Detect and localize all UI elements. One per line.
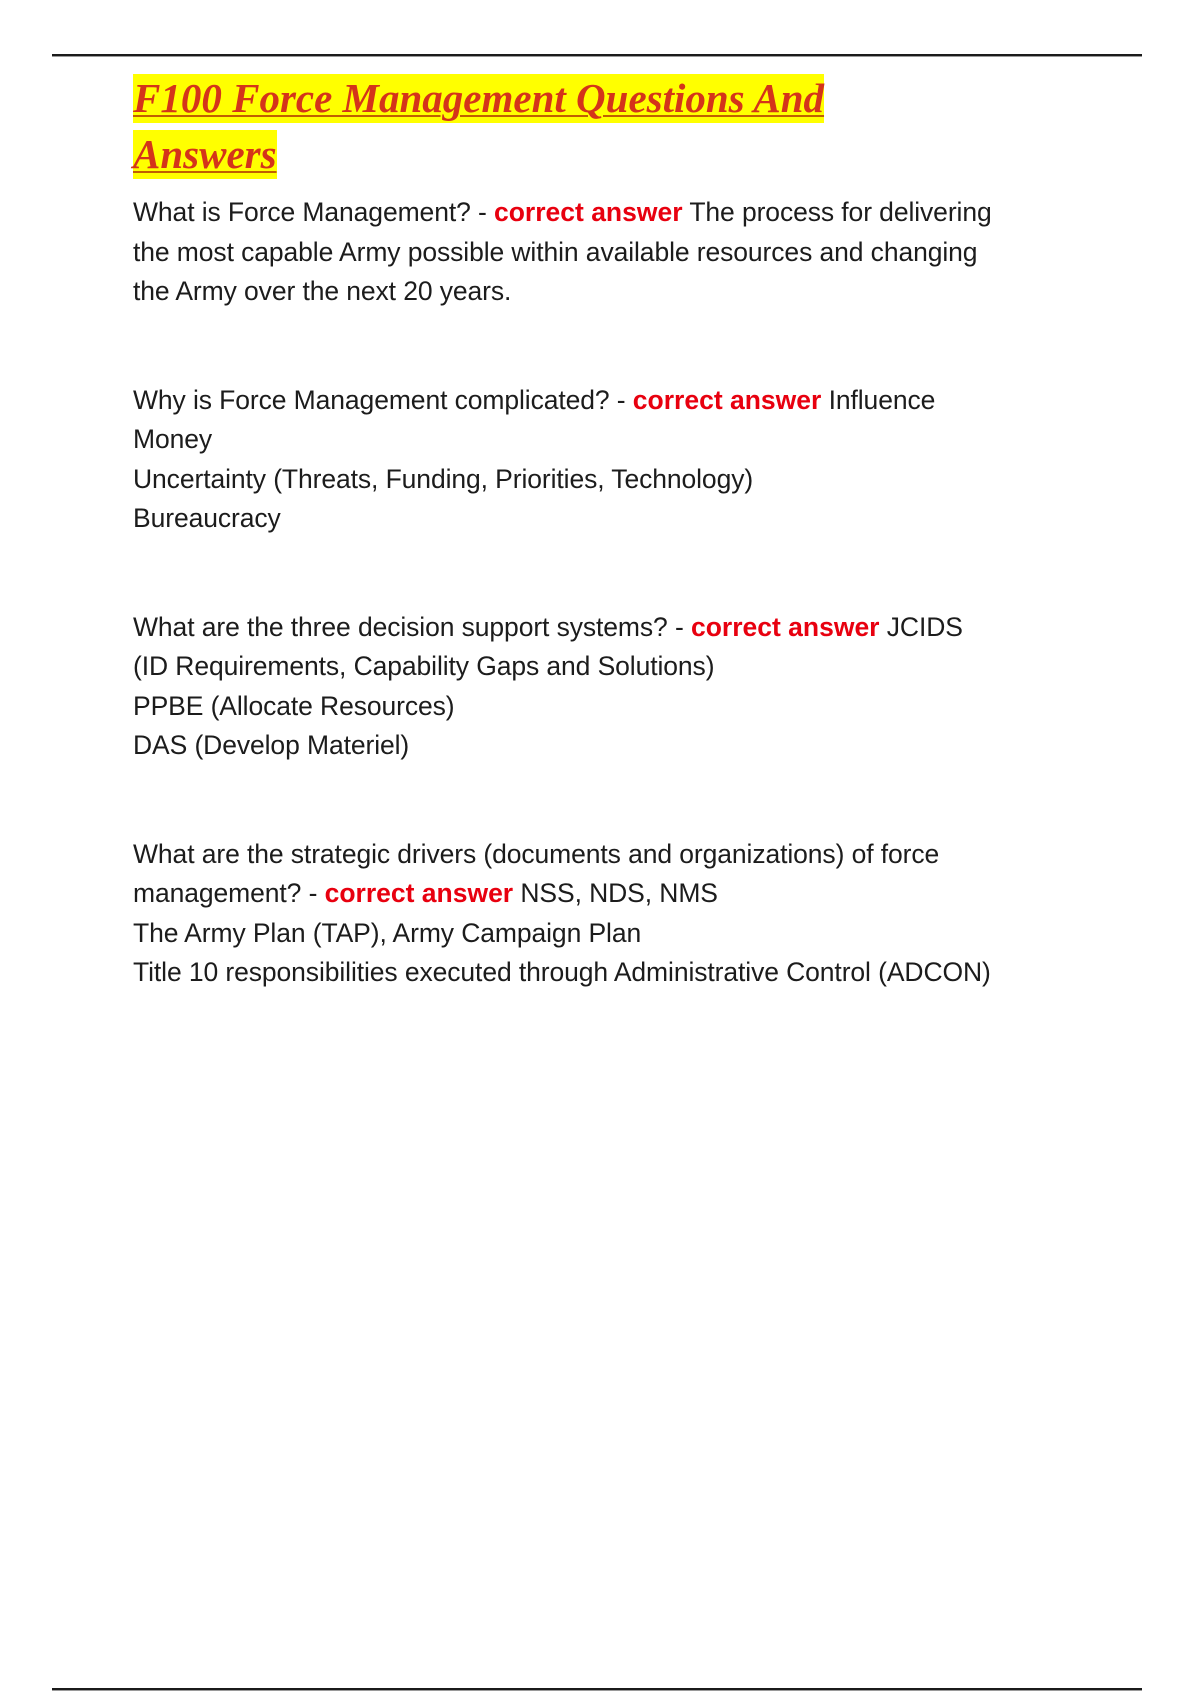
- correct-answer-marker: correct answer: [633, 385, 822, 415]
- correct-answer-marker: correct answer: [691, 612, 880, 642]
- header-rule: [52, 54, 1142, 57]
- document-page: F100 Force Management Questions And Answ…: [0, 0, 1200, 1700]
- page-title: F100 Force Management Questions And Answ…: [133, 70, 1033, 182]
- answer-extra-line: DAS (Develop Materiel): [133, 726, 993, 766]
- answer-text: Influence: [821, 385, 935, 415]
- answer-extra-line: The Army Plan (TAP), Army Campaign Plan: [133, 914, 993, 954]
- block-spacer: [133, 539, 993, 608]
- answer-extra-line: Money: [133, 420, 993, 460]
- page-title-line-1: F100 Force Management Questions And: [133, 74, 824, 123]
- qa-block-2: Why is Force Management complicated? - c…: [133, 381, 993, 539]
- question-text: What is Force Management? -: [133, 197, 494, 227]
- answer-extra-line: Bureaucracy: [133, 499, 993, 539]
- correct-answer-marker: correct answer: [325, 878, 514, 908]
- qa-paragraph: What are the strategic drivers (document…: [133, 835, 993, 914]
- question-text: Why is Force Management complicated? -: [133, 385, 633, 415]
- question-text: What are the three decision support syst…: [133, 612, 691, 642]
- block-spacer: [133, 312, 993, 381]
- qa-block-3: What are the three decision support syst…: [133, 608, 993, 766]
- answer-extra-line: Title 10 responsibilities executed throu…: [133, 953, 993, 993]
- answer-text: NSS, NDS, NMS: [513, 878, 718, 908]
- footer-rule: [52, 1688, 1142, 1691]
- qa-paragraph: What are the three decision support syst…: [133, 608, 993, 687]
- answer-extra-line: Uncertainty (Threats, Funding, Prioritie…: [133, 460, 993, 500]
- block-spacer: [133, 766, 993, 835]
- page-title-line-2: Answers: [133, 130, 277, 179]
- qa-paragraph: What is Force Management? - correct answ…: [133, 193, 993, 312]
- qa-content: What is Force Management? - correct answ…: [133, 193, 993, 993]
- answer-extra-line: PPBE (Allocate Resources): [133, 687, 993, 727]
- qa-block-1: What is Force Management? - correct answ…: [133, 193, 993, 312]
- qa-block-4: What are the strategic drivers (document…: [133, 835, 993, 993]
- correct-answer-marker: correct answer: [494, 197, 683, 227]
- qa-paragraph: Why is Force Management complicated? - c…: [133, 381, 993, 421]
